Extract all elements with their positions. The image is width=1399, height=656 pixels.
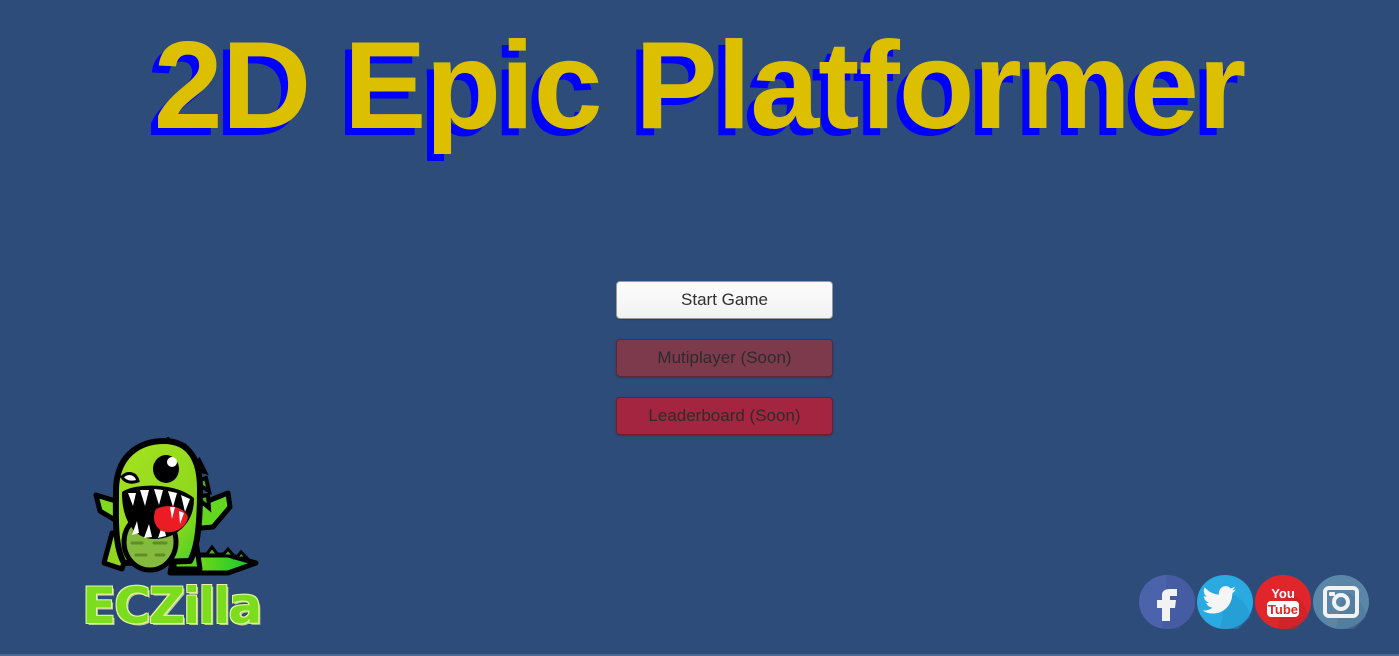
- main-menu-buttons: Start Game Mutiplayer (Soon) Leaderboard…: [616, 281, 833, 435]
- leaderboard-button[interactable]: Leaderboard (Soon): [616, 397, 833, 435]
- eczilla-mascot-icon: [78, 437, 278, 587]
- eczilla-wordmark: ECZilla: [82, 577, 282, 639]
- youtube-icon[interactable]: You Tube: [1254, 571, 1312, 633]
- instagram-icon[interactable]: [1312, 571, 1370, 633]
- svg-text:Tube: Tube: [1268, 602, 1298, 617]
- svg-text:You: You: [1271, 586, 1295, 601]
- twitter-icon[interactable]: [1196, 571, 1254, 633]
- multiplayer-button[interactable]: Mutiplayer (Soon): [616, 339, 833, 377]
- social-links: You Tube: [1138, 571, 1370, 633]
- game-title: 2D Epic Platformer: [0, 18, 1399, 154]
- start-game-button[interactable]: Start Game: [616, 281, 833, 319]
- eczilla-logo: ECZilla: [78, 437, 278, 649]
- game-main-menu-screen: 2D Epic Platformer Start Game Mutiplayer…: [0, 0, 1399, 656]
- facebook-icon[interactable]: [1138, 571, 1196, 633]
